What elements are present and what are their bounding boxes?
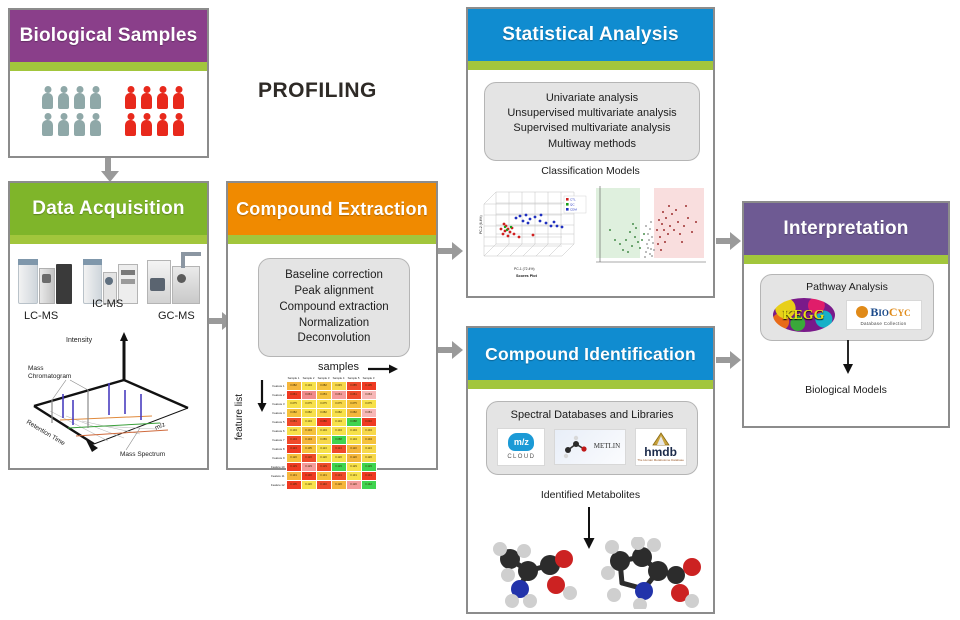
matrix-cell: 0.104 (346, 435, 361, 444)
person-figure (42, 113, 53, 136)
matrix-cell: 0.082 (331, 408, 346, 417)
statistical-methods-box: Univariate analysis Unsupervised multiva… (484, 82, 700, 161)
matrix-cell: 0.120 (286, 453, 301, 462)
matrix-cell: 0.105 (361, 381, 376, 390)
matrix-cell: 0.113 (316, 444, 331, 453)
header-accent-strip (468, 380, 713, 389)
matrix-cell: 0.045 (331, 381, 346, 390)
matrix-cell: 0.104 (286, 426, 301, 435)
person-figure (58, 113, 69, 136)
data-acquisition-header: Data Acquisition (10, 183, 207, 235)
chromatogram-label-intensity: Intensity (66, 337, 93, 344)
matrix-cell: 0.053 (316, 390, 331, 399)
panel-title: Compound Extraction (236, 199, 428, 220)
extraction-step: Baseline correction (265, 268, 403, 284)
chromatogram-3d-plot: Intensity Mass Chromatogram Retention Ti… (16, 328, 206, 460)
panel-title: Statistical Analysis (502, 24, 678, 46)
spectral-databases-caption: Spectral Databases and Libraries (493, 408, 691, 423)
instrument-label-icms: IC-MS (92, 298, 123, 310)
arrow-extraction-to-statistics (438, 242, 464, 260)
pca-legend: CTL QC CDM (564, 196, 586, 213)
matrix-cell: 0.131 (331, 471, 346, 480)
statistical-analysis-body: Univariate analysis Unsupervised multiva… (468, 70, 713, 296)
matrix-cell: 0.131 (286, 471, 301, 480)
svg-text:CTL: CTL (570, 198, 576, 202)
logo-hmdb[interactable]: hmdb The Human Metabolome Database (635, 428, 687, 466)
matrix-row: Feature 30.0750.0750.0750.0750.0750.075 (270, 399, 376, 408)
matrix-cell: 0.082 (316, 408, 331, 417)
matrix-cell: 0.104 (361, 426, 376, 435)
data-acquisition-body: LC-MS IC-MS GC-MS (10, 244, 207, 468)
arrow-extraction-to-identification (438, 341, 464, 359)
matrix-cell: 0.075 (346, 399, 361, 408)
person-figure (58, 86, 69, 109)
matrix-cell: 0.080 (316, 417, 331, 426)
person-figure (173, 86, 184, 109)
extraction-step: Compound extraction (265, 300, 403, 316)
matrix-cell: 0.120 (346, 453, 361, 462)
svg-text:Chromatogram: Chromatogram (28, 373, 71, 380)
matrix-row: Feature 20.0610.0610.0530.0610.0610.064 (270, 390, 376, 399)
matrix-cell: 0.082 (316, 381, 331, 390)
matrix-cell: 0.131 (316, 471, 331, 480)
matrix-cell: 0.142 (361, 480, 376, 489)
interpretation-header: Interpretation (744, 203, 948, 255)
matrix-cell: 0.129 (331, 462, 346, 471)
matrix-row: Feature 60.1040.1040.1040.1040.1040.104 (270, 426, 376, 435)
matrix-cell: 0.075 (286, 399, 301, 408)
panel-title: Interpretation (783, 218, 908, 240)
instrument-label-lcms: LC-MS (24, 310, 58, 322)
matrix-cell: 0.104 (301, 435, 316, 444)
matrix-row: Feature 90.1200.1200.1200.1200.1200.120 (270, 453, 376, 462)
matrix-row-header: Feature 7 (270, 435, 286, 444)
classification-models-caption: Classification Models (468, 165, 713, 177)
matrix-cell: 0.120 (316, 453, 331, 462)
extraction-step: Peak alignment (265, 284, 403, 300)
matrix-cell: 0.120 (331, 480, 346, 489)
extraction-steps-box: Baseline correction Peak alignment Compo… (258, 258, 410, 357)
matrix-cell: 0.129 (346, 462, 361, 471)
volcano-plot (590, 182, 712, 284)
panel-biological-samples[interactable]: Biological Samples (8, 8, 209, 158)
matrix-cell: 0.075 (361, 399, 376, 408)
matrix-cell: 0.088 (346, 417, 361, 426)
instrument-label-gcms: GC-MS (158, 310, 195, 322)
panel-data-acquisition[interactable]: Data Acquisition LC-MS (8, 181, 209, 470)
person-figure (157, 86, 168, 109)
person-figure (42, 86, 53, 109)
matrix-cell: 0.113 (286, 444, 301, 453)
matrix-cell: 0.075 (331, 399, 346, 408)
matrix-row: Feature 10.0820.1040.0820.0450.0850.105 (270, 381, 376, 390)
panel-compound-extraction[interactable]: Compound Extraction Baseline correction … (226, 181, 438, 470)
matrix-cell: 0.129 (316, 462, 331, 471)
panel-title: Data Acquisition (32, 198, 184, 220)
biological-samples-header: Biological Samples (10, 10, 207, 62)
matrix-cell: 0.075 (301, 399, 316, 408)
svg-text:CDM: CDM (570, 208, 577, 212)
compound-extraction-body: Baseline correction Peak alignment Compo… (228, 244, 436, 468)
matrix-cell: 0.081 (361, 408, 376, 417)
matrix-row-header: Feature 10 (270, 462, 286, 471)
matrix-cell: 0.105 (301, 444, 316, 453)
matrix-cell: 0.061 (301, 390, 316, 399)
header-accent-strip (228, 235, 436, 244)
panel-title: Compound Identification (485, 344, 696, 365)
matrix-cell: 0.113 (331, 444, 346, 453)
matrix-row-header: Feature 8 (270, 444, 286, 453)
instrument-lcms-image (18, 256, 76, 304)
matrix-cell: 0.104 (301, 426, 316, 435)
matrix-cell: 0.131 (361, 471, 376, 480)
samples-direction-arrow (368, 362, 400, 376)
pathway-analysis-caption: Pathway Analysis (767, 280, 927, 294)
svg-text:PC-2 (6.4%): PC-2 (6.4%) (479, 215, 483, 234)
person-figure (173, 113, 184, 136)
matrix-cell: 0.081 (286, 417, 301, 426)
matrix-row: Feature 50.0810.1040.0800.1040.0880.040 (270, 417, 376, 426)
logo-kegg[interactable]: KEGG (773, 298, 835, 332)
header-accent-strip (468, 61, 713, 70)
extraction-step: Normalization (265, 316, 403, 332)
matrix-cell: 0.104 (331, 417, 346, 426)
logo-biocyc[interactable]: BIOCYC Database Collection (846, 300, 922, 330)
matrix-row-header: Feature 4 (270, 408, 286, 417)
person-figure (74, 86, 85, 109)
matrix-cell: 0.130 (301, 471, 316, 480)
matrix-cell: 0.120 (301, 480, 316, 489)
arrow-identification-to-interpretation (716, 351, 742, 369)
matrix-cell: 0.064 (361, 390, 376, 399)
matrix-cell: 0.120 (361, 453, 376, 462)
matrix-row-header: Feature 11 (270, 471, 286, 480)
person-figure (90, 113, 101, 136)
matrix-cell: 0.061 (286, 390, 301, 399)
extraction-step: Deconvolution (265, 331, 403, 347)
pathway-analysis-box: Pathway Analysis KEGG BIOCYC Database Co… (760, 274, 934, 341)
panel-interpretation[interactable]: Interpretation Pathway Analysis KEGG BIO… (742, 201, 950, 428)
feature-matrix-heatmap[interactable]: Sample 1Sample 2Sample 3Sample 4Sample 5… (270, 375, 377, 490)
interpretation-body: Pathway Analysis KEGG BIOCYC Database Co… (744, 264, 948, 426)
logo-mzcloud[interactable]: m/z CLOUD (497, 428, 545, 466)
matrix-cell: 0.113 (361, 444, 376, 453)
panel-statistical-analysis[interactable]: Statistical Analysis Univariate analysis… (466, 7, 715, 298)
matrix-row: Feature 80.1130.1050.1130.1130.1100.113 (270, 444, 376, 453)
feature-direction-arrow (255, 380, 269, 414)
person-figure (90, 86, 101, 109)
person-figure (74, 113, 85, 136)
matrix-cell: 0.120 (331, 453, 346, 462)
matrix-cell: 0.089 (316, 435, 331, 444)
matrix-cell: 0.085 (346, 381, 361, 390)
matrix-row-header: Feature 5 (270, 417, 286, 426)
compound-identification-body: Spectral Databases and Libraries m/z CLO… (468, 389, 713, 612)
matrix-cell: 0.131 (346, 471, 361, 480)
metabolite-molecule-1 (482, 537, 592, 609)
arrow-statistics-to-interpretation (716, 232, 742, 250)
matrix-row: Feature 70.1040.1040.0890.0880.1040.104 (270, 435, 376, 444)
matrix-cell: 0.110 (346, 444, 361, 453)
matrix-cell: 0.061 (331, 390, 346, 399)
profiling-label: PROFILING (258, 79, 377, 103)
matrix-row-header: Feature 6 (270, 426, 286, 435)
person-figure (157, 113, 168, 136)
matrix-cell: 0.120 (301, 453, 316, 462)
instrument-gcms-image (147, 252, 203, 304)
matrix-cell: 0.088 (331, 435, 346, 444)
compound-extraction-header: Compound Extraction (228, 183, 436, 235)
svg-text:Mass Spectrum: Mass Spectrum (120, 451, 165, 458)
logo-metlin[interactable]: METLIN (554, 429, 626, 465)
matrix-cell: 0.140 (316, 480, 331, 489)
person-figure (125, 86, 136, 109)
matrix-cell: 0.104 (301, 381, 316, 390)
interpretation-down-arrow (839, 340, 857, 378)
biological-models-caption: Biological Models (744, 384, 948, 396)
metabolite-molecule-2 (586, 537, 704, 609)
person-figure (141, 86, 152, 109)
statistical-method: Unsupervised multivariate analysis (490, 106, 694, 121)
matrix-row: Feature 100.1290.1290.1290.1290.1290.129 (270, 462, 376, 471)
matrix-row: Feature 120.1050.1200.1400.1200.1200.142 (270, 480, 376, 489)
matrix-cell: 0.104 (316, 426, 331, 435)
panel-compound-identification[interactable]: Compound Identification Spectral Databas… (466, 326, 715, 614)
matrix-cell: 0.129 (301, 462, 316, 471)
matrix-row: Feature 110.1310.1300.1310.1310.1310.131 (270, 471, 376, 480)
matrix-row-header: Feature 12 (270, 480, 286, 489)
matrix-samples-label: samples (318, 361, 359, 373)
matrix-feature-list-label: feature list (234, 394, 245, 440)
matrix-cell: 0.082 (346, 408, 361, 417)
arrow-samples-to-acquisition (101, 158, 115, 182)
matrix-cell: 0.104 (361, 435, 376, 444)
matrix-cell: 0.104 (331, 426, 346, 435)
matrix-row-header: Feature 3 (270, 399, 286, 408)
matrix-cell: 0.061 (346, 390, 361, 399)
svg-text:Scores Plot: Scores Plot (516, 274, 538, 278)
matrix-cell: 0.104 (286, 435, 301, 444)
matrix-cell: 0.129 (361, 462, 376, 471)
header-accent-strip (10, 235, 207, 244)
statistical-method: Univariate analysis (490, 91, 694, 106)
svg-text:Mass: Mass (28, 365, 44, 372)
matrix-row: Feature 40.0820.0820.0820.0820.0820.081 (270, 408, 376, 417)
spectral-databases-box: Spectral Databases and Libraries m/z CLO… (486, 401, 698, 475)
instrument-icms-image (83, 256, 139, 304)
svg-text:PC-1 (72.4%): PC-1 (72.4%) (514, 267, 535, 271)
matrix-cell: 0.082 (286, 408, 301, 417)
header-accent-strip (10, 62, 207, 71)
matrix-cell: 0.082 (301, 408, 316, 417)
matrix-cell: 0.075 (316, 399, 331, 408)
matrix-row-header: Feature 1 (270, 381, 286, 390)
header-accent-strip (744, 255, 948, 264)
person-figure (141, 113, 152, 136)
statistical-analysis-header: Statistical Analysis (468, 9, 713, 61)
identified-metabolites-caption: Identified Metabolites (468, 489, 713, 501)
matrix-cell: 0.129 (286, 462, 301, 471)
statistical-method: Multiway methods (490, 137, 694, 152)
person-figure (125, 113, 136, 136)
biological-samples-body (10, 71, 207, 156)
compound-identification-header: Compound Identification (468, 328, 713, 380)
matrix-cell: 0.082 (286, 381, 301, 390)
matrix-row-header: Feature 2 (270, 390, 286, 399)
biocyc-subtitle: Database Collection (861, 321, 907, 327)
pca-scores-plot: CTL QC CDM PC-2 (6.4%) PC-1 (72.4%) Scor… (478, 182, 590, 284)
matrix-cell: 0.040 (361, 417, 376, 426)
matrix-cell: 0.104 (301, 417, 316, 426)
matrix-row-header: Feature 9 (270, 453, 286, 462)
matrix-cell: 0.120 (346, 480, 361, 489)
statistical-method: Supervised multivariate analysis (490, 121, 694, 136)
matrix-cell: 0.105 (286, 480, 301, 489)
matrix-cell: 0.104 (346, 426, 361, 435)
panel-title: Biological Samples (20, 25, 198, 47)
